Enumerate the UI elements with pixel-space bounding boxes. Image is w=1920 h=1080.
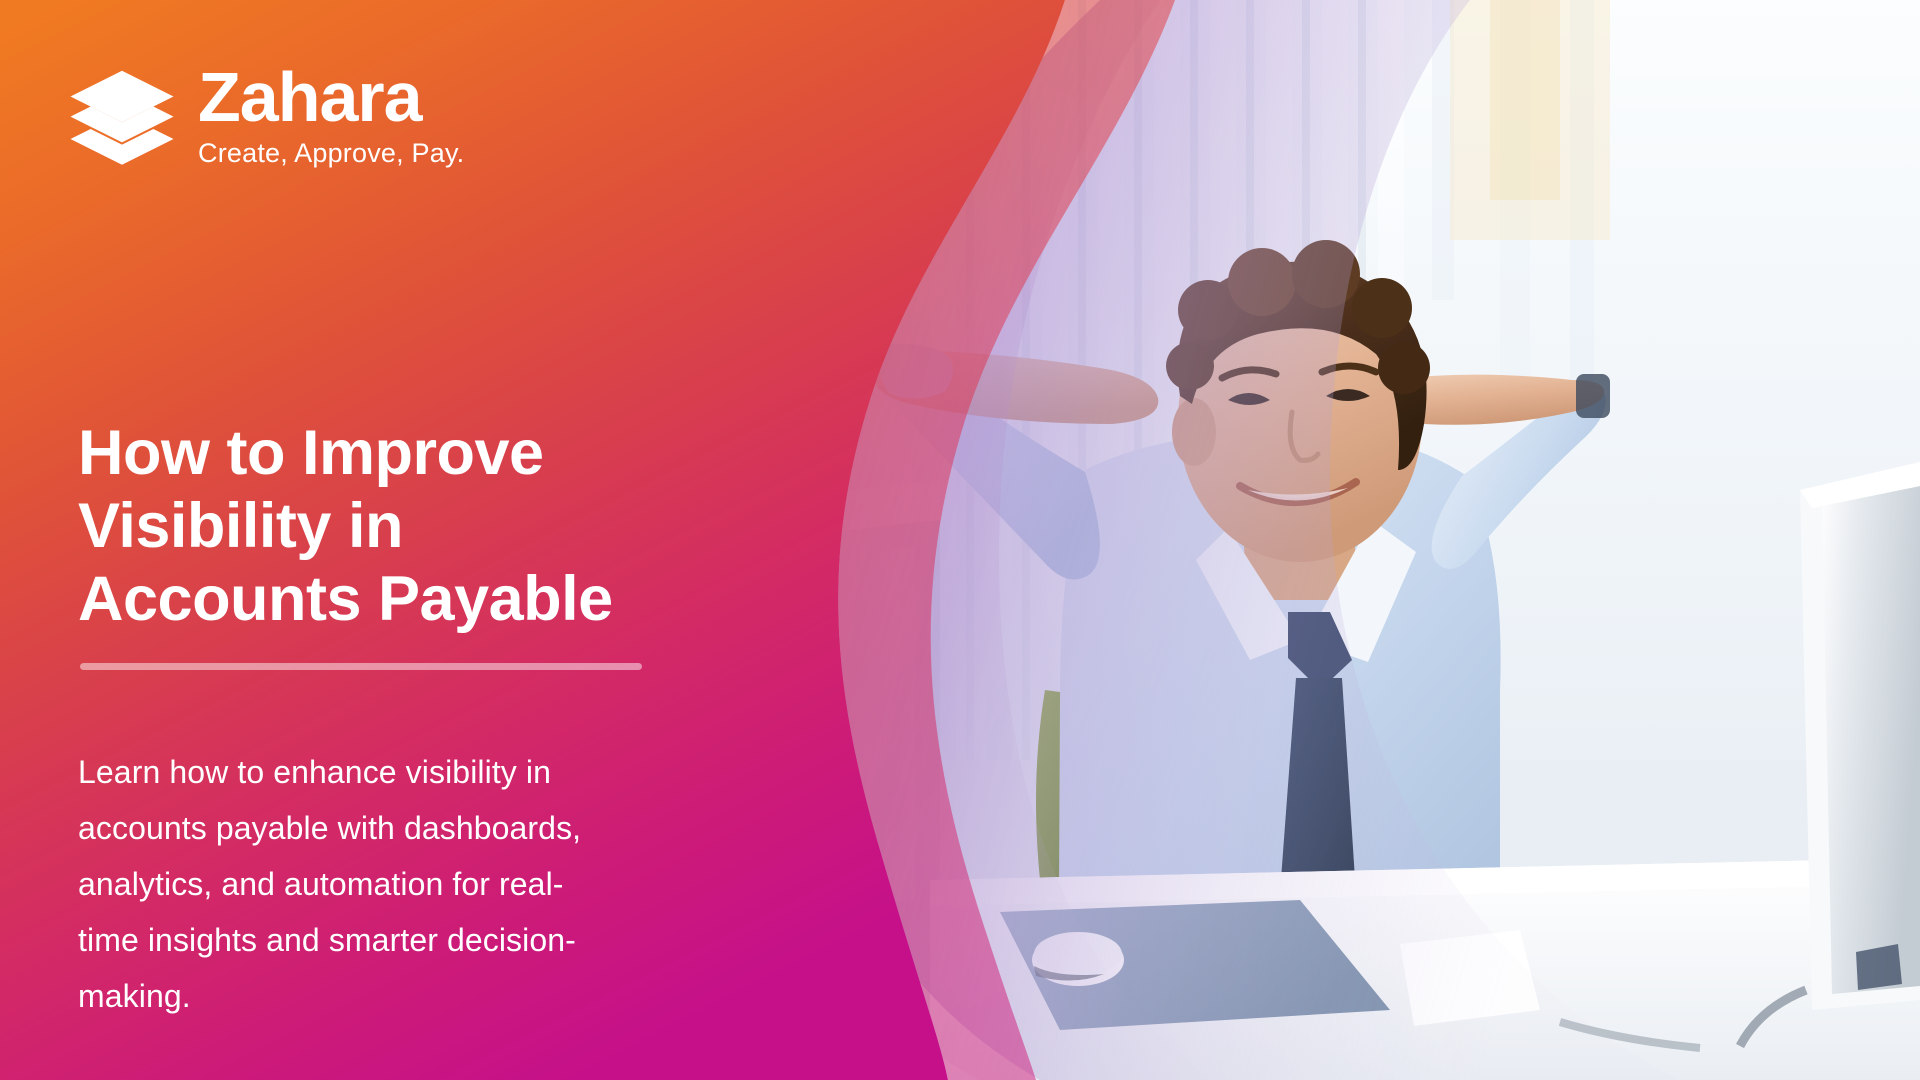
headline-line-3: Accounts Payable bbox=[78, 564, 613, 634]
brand-tagline: Create, Approve, Pay. bbox=[198, 140, 464, 167]
subcopy-line-5: making. bbox=[78, 978, 191, 1014]
subcopy-line-3: analytics, and automation for real- bbox=[78, 866, 564, 902]
stacked-layers-icon bbox=[66, 64, 178, 176]
page-title: How to Improve Visibility in Accounts Pa… bbox=[78, 417, 718, 636]
headline-line-1: How to Improve bbox=[78, 418, 544, 488]
paper-sheet bbox=[1400, 930, 1540, 1026]
subcopy-line-1: Learn how to enhance visibility in bbox=[78, 754, 551, 790]
headline-line-2: Visibility in bbox=[78, 491, 403, 561]
subcopy-line-4: time insights and smarter decision- bbox=[78, 922, 576, 958]
monitor-screen bbox=[1822, 486, 1920, 994]
divider bbox=[80, 663, 642, 670]
brand-logo[interactable]: Zahara Create, Approve, Pay. bbox=[66, 58, 464, 176]
hero-content: Zahara Create, Approve, Pay. How to Impr… bbox=[78, 0, 738, 1080]
blog-hero-banner: Zahara Create, Approve, Pay. How to Impr… bbox=[0, 0, 1920, 1080]
brand-logo-text: Zahara Create, Approve, Pay. bbox=[198, 58, 464, 167]
brand-name: Zahara bbox=[198, 62, 464, 132]
subcopy-line-2: accounts payable with dashboards, bbox=[78, 810, 581, 846]
page-description: Learn how to enhance visibility in accou… bbox=[78, 744, 658, 1024]
